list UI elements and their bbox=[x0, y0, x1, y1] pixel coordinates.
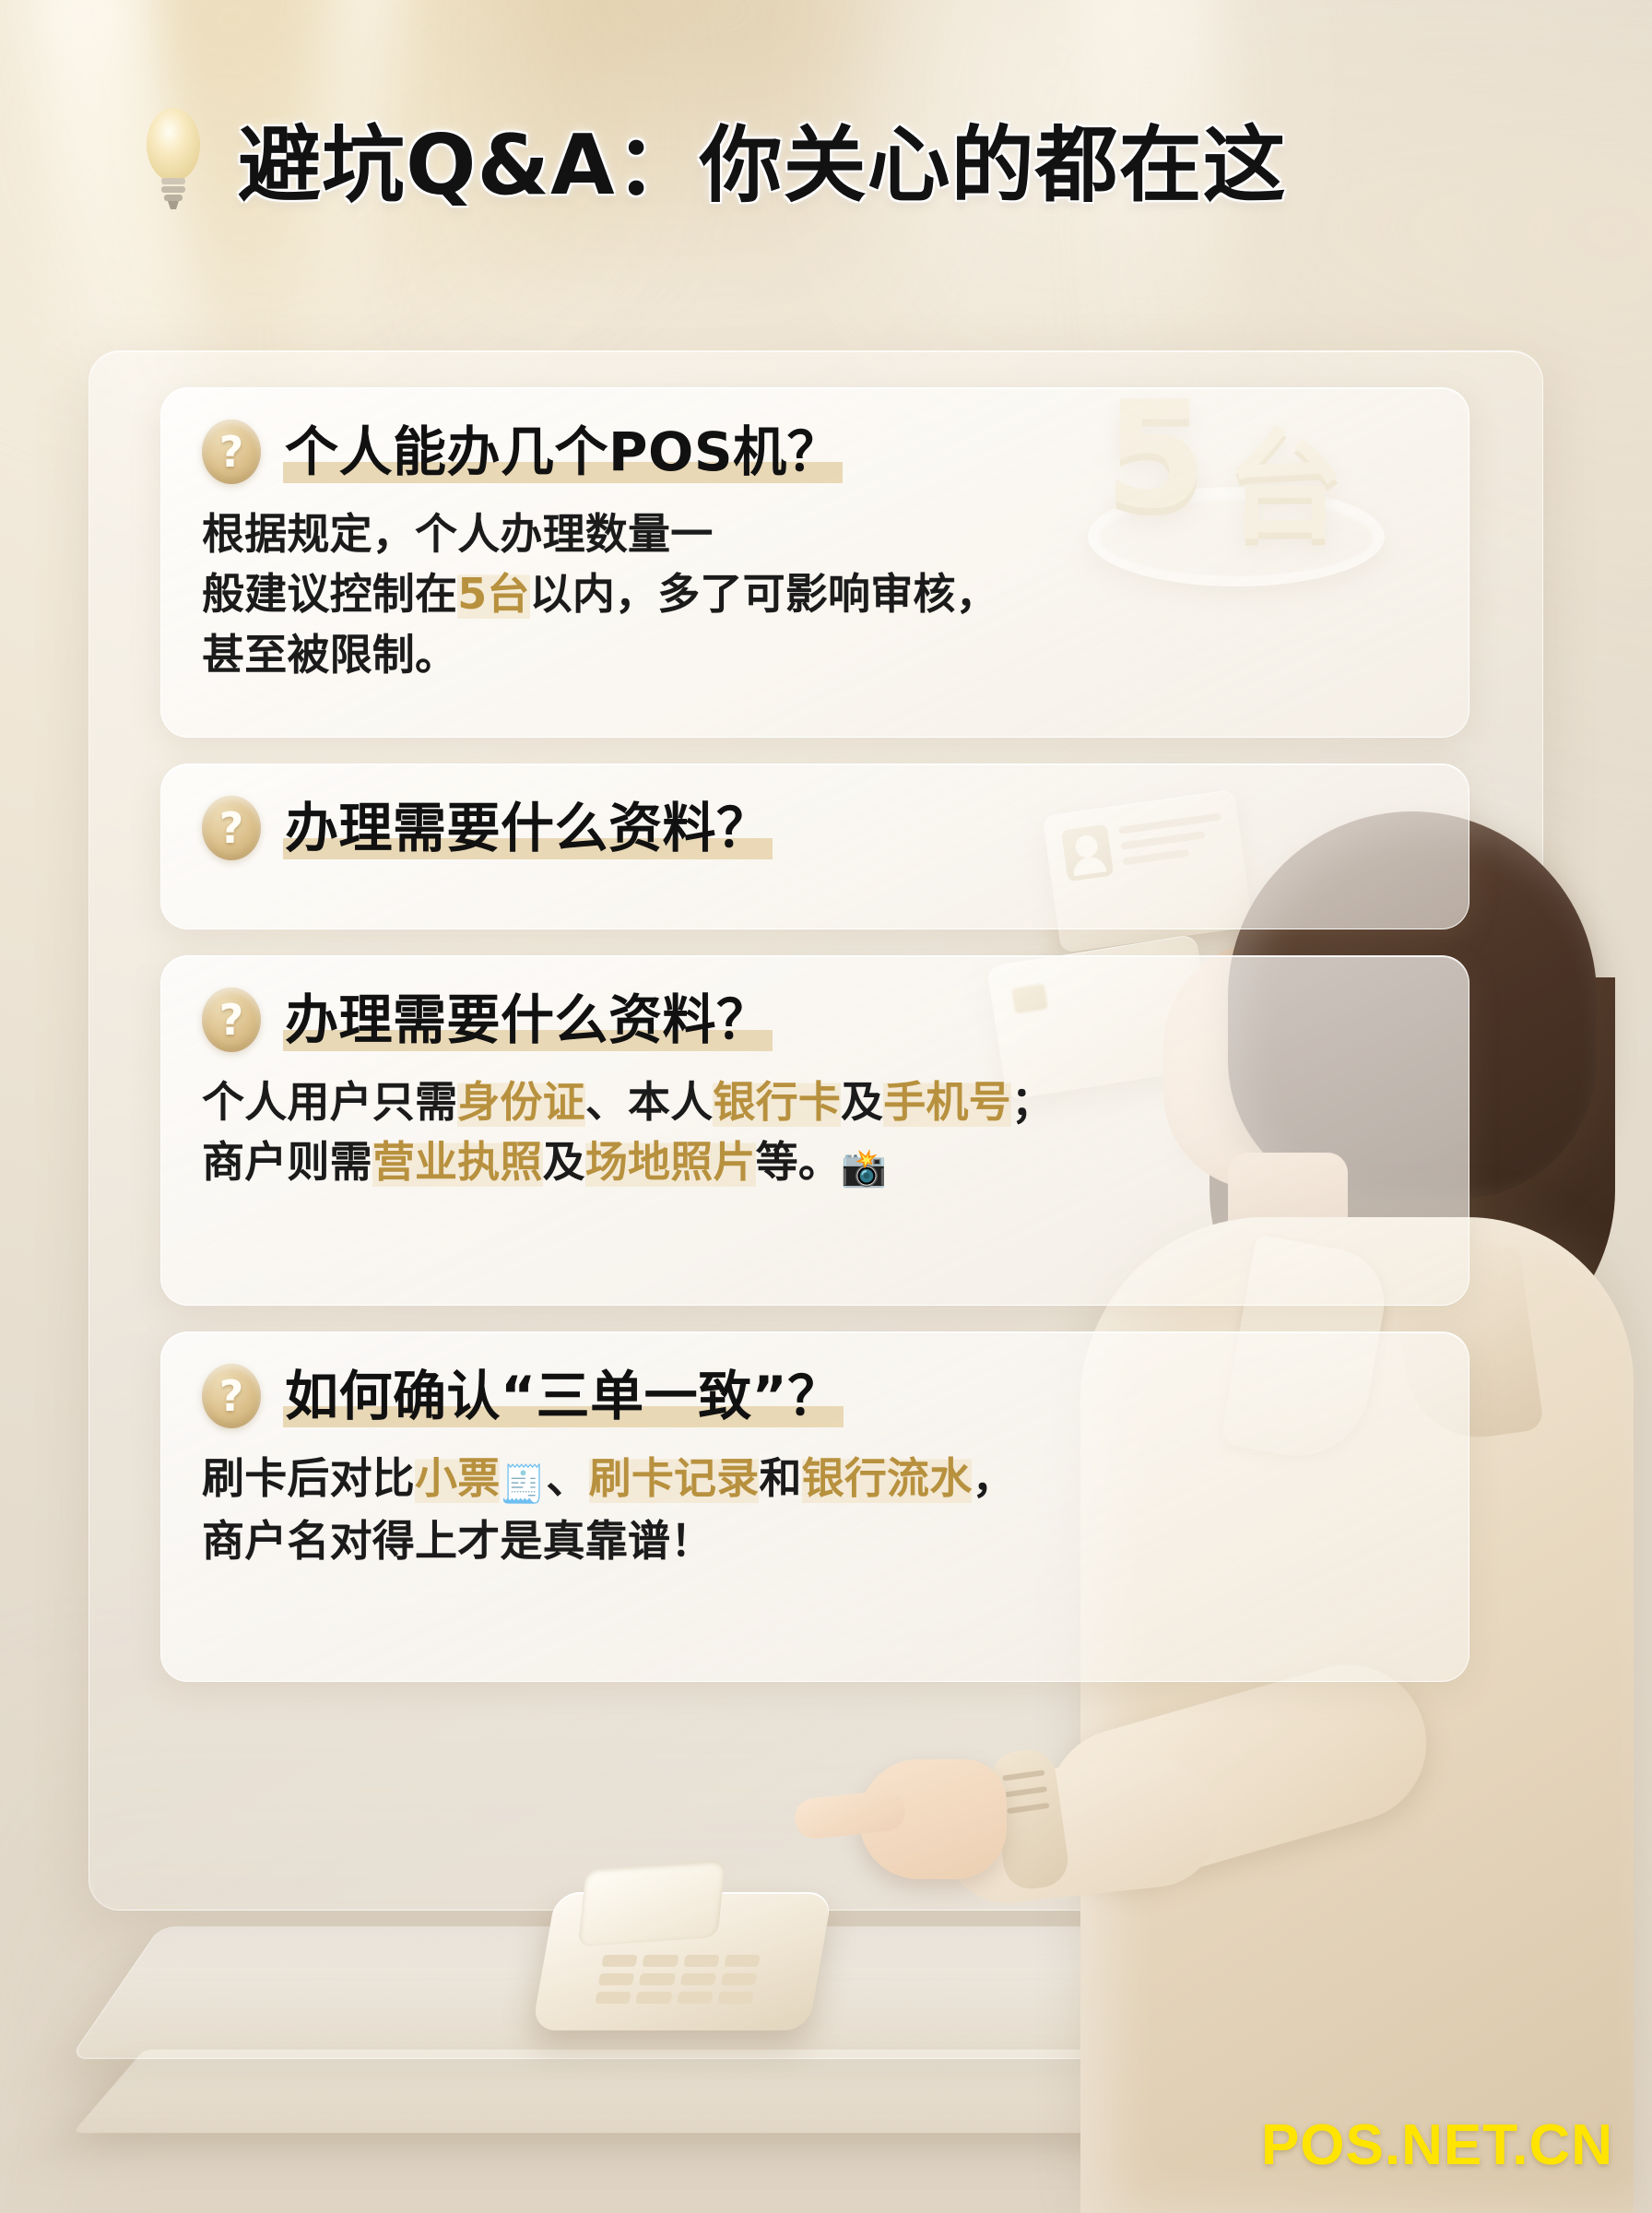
question-text: 办理需要什么资料？ bbox=[283, 991, 773, 1049]
highlighted-term: 手机号 bbox=[883, 1077, 1011, 1127]
question-row: ? 办理需要什么资料？ bbox=[202, 988, 1428, 1052]
qa-card[interactable]: ? 个人能办几个POS机？ 根据规定，个人办理数量一般建议控制在5台以内，多了可… bbox=[160, 387, 1469, 738]
highlighted-term: 银行流水 bbox=[802, 1453, 973, 1503]
qa-card[interactable]: ? 办理需要什么资料？ 个人用户只需身份证、本人银行卡及手机号；商户则需营业执照… bbox=[160, 955, 1469, 1306]
answer-line: 根据规定，个人办理数量一 bbox=[202, 504, 1428, 564]
question-row: ? 个人能办几个POS机？ bbox=[202, 420, 1428, 484]
highlighted-term: 营业执照 bbox=[372, 1137, 543, 1187]
highlighted-term: 场地照片 bbox=[585, 1137, 756, 1187]
answer-segment: 等。 bbox=[756, 1137, 841, 1187]
answer-segment: 以内，多了可影响审核， bbox=[530, 569, 998, 619]
question-label: 办理需要什么资料？ bbox=[283, 988, 773, 1051]
answer-segment: 及 bbox=[543, 1137, 585, 1187]
inline-emoji: 🧾 bbox=[500, 1463, 546, 1506]
qa-card[interactable]: ? 如何确认“三单一致”？ 刷卡后对比小票🧾、刷卡记录和银行流水，商户名对得上才… bbox=[160, 1331, 1469, 1682]
answer-segment: 般建议控制在 bbox=[202, 569, 457, 619]
question-mark-icon: ? bbox=[202, 988, 261, 1052]
question-mark-icon: ? bbox=[202, 796, 261, 860]
answer-segment: 根据规定，个人办理数量一 bbox=[202, 509, 713, 559]
question-text: 办理需要什么资料？ bbox=[283, 799, 773, 858]
page-header: 避坑Q&A：你关心的都在这 bbox=[0, 89, 1652, 227]
lightbulb-icon bbox=[131, 102, 216, 213]
question-label: 如何确认“三单一致”？ bbox=[283, 1365, 844, 1427]
answer-line: 商户则需营业执照及场地照片等。📸 bbox=[202, 1132, 1428, 1195]
page-title: 避坑Q&A：你关心的都在这 bbox=[238, 98, 1287, 218]
inline-emoji: 📸 bbox=[841, 1147, 887, 1189]
highlighted-term: 身份证 bbox=[457, 1077, 585, 1127]
pos-terminal-icon bbox=[544, 1853, 848, 2038]
answer-segment: ， bbox=[972, 1453, 1014, 1503]
answer-segment: 、本人 bbox=[585, 1077, 714, 1127]
question-row: ? 如何确认“三单一致”？ bbox=[202, 1364, 1428, 1428]
answer-line: 个人用户只需身份证、本人银行卡及手机号； bbox=[202, 1072, 1428, 1132]
highlighted-term: 刷卡记录 bbox=[589, 1453, 760, 1503]
answer-segment: 商户则需 bbox=[202, 1137, 372, 1187]
answer-text: 根据规定，个人办理数量一般建议控制在5台以内，多了可影响审核，甚至被限制。 bbox=[202, 504, 1428, 685]
site-watermark: POS.NET.CN bbox=[1261, 2112, 1613, 2178]
question-mark-icon: ? bbox=[202, 1364, 261, 1428]
question-text: 如何确认“三单一致”？ bbox=[283, 1367, 844, 1426]
question-label: 办理需要什么资料？ bbox=[283, 797, 773, 859]
answer-line: 刷卡后对比小票🧾、刷卡记录和银行流水， bbox=[202, 1449, 1428, 1511]
qa-card[interactable]: ? 办理需要什么资料？ bbox=[160, 763, 1469, 929]
answer-line: 甚至被限制。 bbox=[202, 625, 1428, 685]
question-mark-icon: ? bbox=[202, 420, 261, 484]
answer-segment: 及 bbox=[841, 1077, 883, 1127]
question-row: ? 办理需要什么资料？ bbox=[202, 796, 1428, 860]
question-label: 个人能办几个POS机？ bbox=[283, 420, 843, 483]
question-text: 个人能办几个POS机？ bbox=[283, 423, 843, 481]
answer-line: 般建议控制在5台以内，多了可影响审核， bbox=[202, 564, 1428, 624]
highlighted-term: 5台 bbox=[457, 569, 529, 619]
highlighted-term: 小票 bbox=[415, 1453, 500, 1503]
answer-line: 商户名对得上才是真靠谱！ bbox=[202, 1511, 1428, 1571]
answer-segment: 个人用户只需 bbox=[202, 1077, 457, 1127]
answer-segment: 和 bbox=[759, 1453, 801, 1503]
highlighted-term: 银行卡 bbox=[713, 1077, 841, 1127]
answer-segment: 、 bbox=[546, 1453, 588, 1503]
answer-segment: ； bbox=[1011, 1077, 1054, 1127]
answer-segment: 刷卡后对比 bbox=[202, 1453, 415, 1503]
answer-segment: 商户名对得上才是真靠谱！ bbox=[202, 1516, 713, 1566]
answer-text: 刷卡后对比小票🧾、刷卡记录和银行流水，商户名对得上才是真靠谱！ bbox=[202, 1449, 1428, 1571]
pos-keypad bbox=[595, 1955, 760, 2004]
answer-text: 个人用户只需身份证、本人银行卡及手机号；商户则需营业执照及场地照片等。📸 bbox=[202, 1072, 1428, 1195]
answer-segment: 甚至被限制。 bbox=[202, 630, 457, 680]
pos-screen bbox=[578, 1860, 726, 1947]
